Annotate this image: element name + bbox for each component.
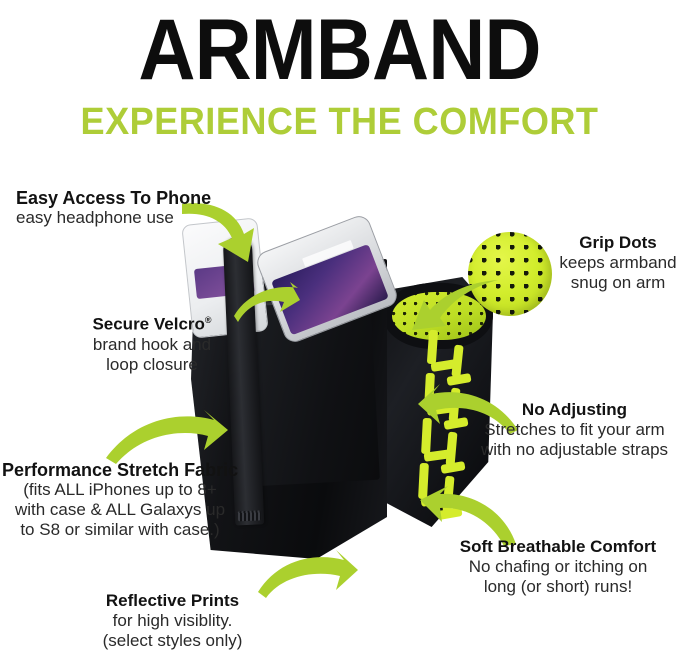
callout-title: Soft Breathable Comfort bbox=[437, 537, 679, 557]
callout-line: with no adjustable straps bbox=[470, 440, 679, 460]
callout-line: loop closure bbox=[62, 355, 242, 375]
callout-title: Reflective Prints bbox=[70, 591, 275, 611]
callout-reflective-prints: Reflective Prints for high visiblity. (s… bbox=[70, 591, 275, 651]
callout-line: easy headphone use bbox=[16, 208, 211, 228]
callout-line: with case & ALL Galaxys up bbox=[2, 500, 238, 520]
callout-line: snug on arm bbox=[557, 273, 679, 293]
registered-mark: ® bbox=[205, 315, 212, 325]
arrow-secure-velcro bbox=[232, 282, 302, 326]
callout-title: Performance Stretch Fabric bbox=[2, 460, 238, 480]
callout-title-text: Secure Velcro bbox=[92, 315, 204, 334]
callout-line: (fits ALL iPhones up to 8+ bbox=[2, 480, 238, 500]
callout-title: Easy Access To Phone bbox=[16, 188, 211, 208]
callout-performance-stretch-fabric: Performance Stretch Fabric (fits ALL iPh… bbox=[2, 460, 238, 540]
callout-title: Secure Velcro® bbox=[62, 310, 242, 335]
callout-title: Grip Dots bbox=[557, 233, 679, 253]
arrow-grip-dots bbox=[390, 278, 500, 340]
callout-line: Stretches to fit your arm bbox=[470, 420, 679, 440]
page-title: ARMBAND bbox=[27, 2, 652, 98]
page-subtitle: EXPERIENCE THE COMFORT bbox=[17, 100, 662, 144]
header: ARMBAND EXPERIENCE THE COMFORT bbox=[0, 0, 679, 160]
callout-grip-dots: Grip Dots keeps armband snug on arm bbox=[557, 233, 679, 293]
arrow-performance-fabric bbox=[104, 404, 230, 466]
callout-soft-breathable-comfort: Soft Breathable Comfort No chafing or it… bbox=[437, 537, 679, 597]
callout-line: for high visiblity. bbox=[70, 611, 275, 631]
callout-secure-velcro: Secure Velcro® brand hook and loop closu… bbox=[62, 310, 242, 375]
callout-line: brand hook and bbox=[62, 335, 242, 355]
callout-line: long (or short) runs! bbox=[437, 577, 679, 597]
callout-easy-access: Easy Access To Phone easy headphone use bbox=[16, 188, 211, 228]
callout-line: keeps armband bbox=[557, 253, 679, 273]
callout-no-adjusting: No Adjusting Stretches to fit your arm w… bbox=[470, 400, 679, 460]
callout-line: No chafing or itching on bbox=[437, 557, 679, 577]
callout-title: No Adjusting bbox=[470, 400, 679, 420]
callout-line: to S8 or similar with case.) bbox=[2, 520, 238, 540]
callout-line: (select styles only) bbox=[70, 631, 275, 651]
